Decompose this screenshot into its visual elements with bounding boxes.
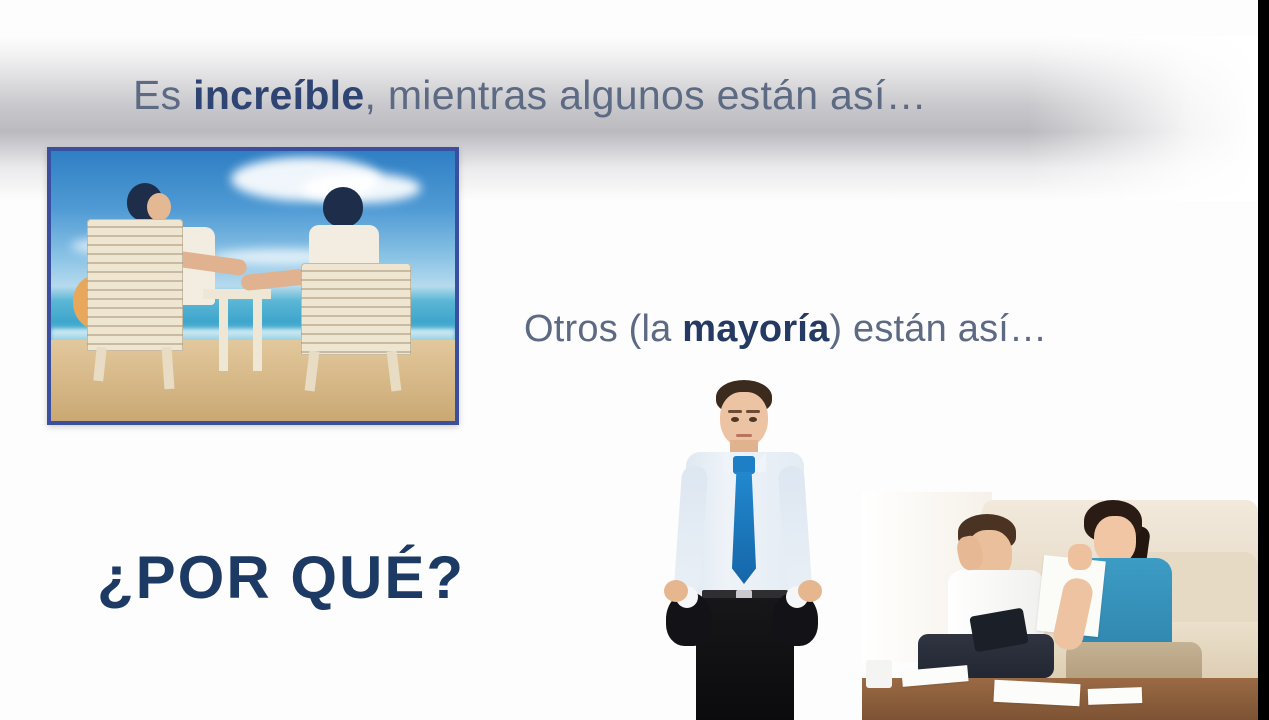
big-question-text: ¿POR QUÉ?: [97, 543, 465, 612]
couple-woman-face: [1094, 516, 1136, 564]
beach-side-table-leg: [253, 297, 262, 371]
headline-text: Es increíble, mientras algunos están así…: [133, 72, 927, 119]
subline-prefix: Otros (la: [524, 308, 682, 350]
beach-woman-face: [147, 193, 171, 221]
businessman-tie-knot: [733, 456, 755, 474]
beach-chair-slats: [301, 263, 411, 355]
slide-canvas: Es increíble, mientras algunos están así…: [0, 0, 1269, 720]
headline-suffix: , mientras algunos están así…: [364, 72, 926, 118]
businessman-hand-left: [664, 580, 688, 602]
bill-paper: [1088, 687, 1143, 705]
businessman-eye: [731, 417, 739, 422]
businessman-eyebrow: [728, 410, 742, 413]
bill-paper: [993, 680, 1080, 706]
beach-chair-slats: [87, 219, 183, 351]
subline-accent-mayoria: mayoría: [682, 308, 829, 350]
businessman-eyebrow: [746, 410, 760, 413]
businessman-hand-right: [798, 580, 822, 602]
subline-text: Otros (la mayoría) están así…: [524, 308, 1047, 352]
beach-chair-left: [87, 219, 183, 351]
businessman-mouth: [736, 434, 752, 437]
beach-side-table-leg: [219, 297, 228, 371]
worried-couple-reviewing-bills-photo: [862, 492, 1258, 720]
mug: [866, 660, 892, 688]
beach-photo-frame: [47, 147, 459, 425]
broke-businessman-empty-pockets-photo: [620, 380, 862, 720]
beach-chair-right: [301, 263, 411, 355]
background-gradient-right-fade: [1028, 36, 1258, 201]
businessman-eye: [749, 417, 757, 422]
headline-accent-increible: increíble: [193, 72, 364, 118]
beach-man-hair: [323, 187, 363, 227]
subline-suffix: ) están así…: [829, 308, 1047, 350]
letterbox-bar-right: [1258, 0, 1269, 720]
businessman-necktie: [732, 472, 756, 584]
headline-prefix: Es: [133, 72, 193, 118]
couple-woman-hand: [1068, 544, 1092, 570]
retired-couple-on-beach-photo: [51, 151, 455, 421]
